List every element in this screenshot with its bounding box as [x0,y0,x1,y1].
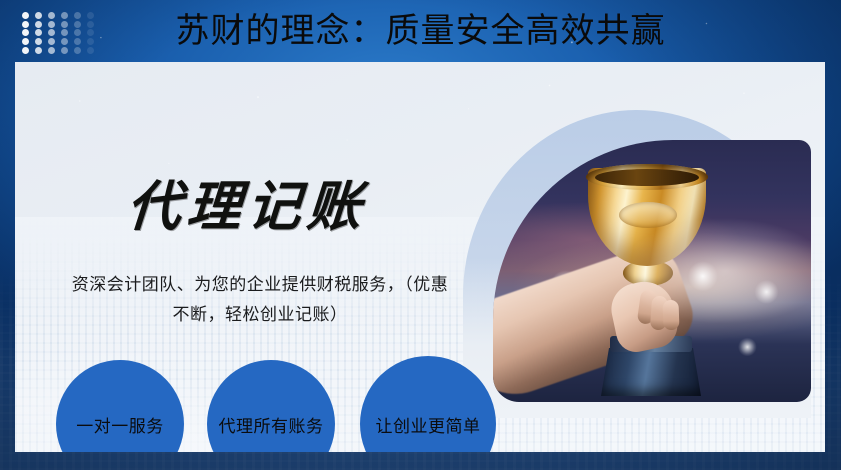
slide-canvas: 苏财的理念：质量安全高效共赢 [0,0,841,470]
trophy-photo-scene [493,140,811,402]
slide-header-title: 苏财的理念：质量安全高效共赢 [0,8,841,54]
trophy-rim-inner [595,169,699,186]
subcopy-text: 资深会计团队、为您的企业提供财税服务，（优惠不断，轻松创业记账） [65,270,455,330]
feature-circle-label: 一对一服务 [76,412,164,437]
finger-shape [662,300,679,331]
headline-text: 代理记账 [125,174,370,240]
trophy-photo [493,140,811,402]
content-card: 代理记账 资深会计团队、为您的企业提供财税服务，（优惠不断，轻松创业记账） 一对… [15,62,825,452]
feature-circle-label: 代理所有账务 [219,412,324,437]
trophy-base [601,348,701,396]
trophy-emblem [619,202,677,228]
feature-circle-label: 让创业更简单 [376,412,481,437]
